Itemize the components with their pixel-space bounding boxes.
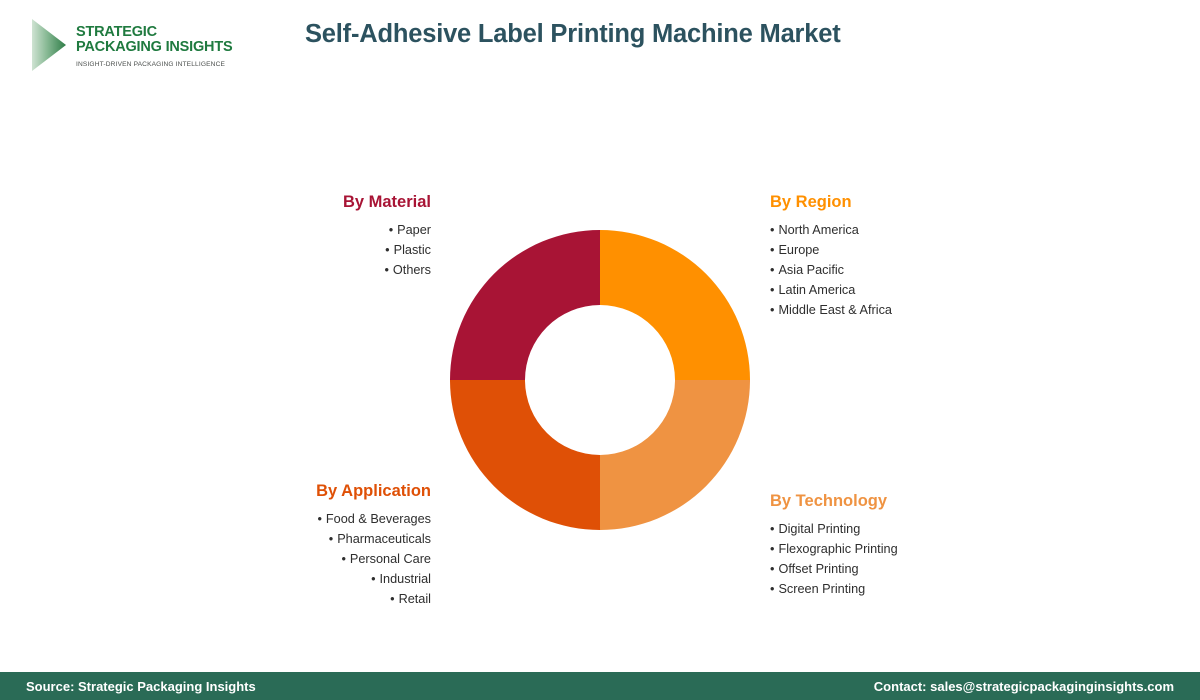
bullet-icon: • — [389, 223, 393, 237]
brand-logo-tagline: INSIGHT-DRIVEN PACKAGING INTELLIGENCE — [76, 61, 232, 68]
list-item-label: Screen Printing — [778, 582, 865, 596]
donut-segment-region[interactable] — [600, 230, 750, 380]
bullet-icon: • — [770, 522, 774, 536]
list-item-label: Digital Printing — [778, 522, 860, 536]
list-item: •Industrial — [185, 569, 431, 589]
list-item-label: Pharmaceuticals — [337, 532, 431, 546]
segment-heading-application: By Application — [185, 482, 431, 501]
chevron-right-icon — [28, 17, 70, 73]
list-item-label: North America — [778, 223, 858, 237]
segment-heading-technology: By Technology — [770, 492, 1070, 511]
list-item: •Personal Care — [185, 549, 431, 569]
segment-heading-material: By Material — [215, 193, 431, 212]
list-item-label: Flexographic Printing — [778, 542, 897, 556]
list-item: •Others — [215, 260, 431, 280]
donut-segment-application[interactable] — [450, 380, 600, 530]
list-item-label: Food & Beverages — [326, 512, 431, 526]
footer-source: Source: Strategic Packaging Insights — [26, 679, 256, 694]
list-item: •Paper — [215, 220, 431, 240]
list-item: •Pharmaceuticals — [185, 529, 431, 549]
bullet-icon: • — [770, 562, 774, 576]
segment-list-region: •North America•Europe•Asia Pacific•Latin… — [770, 220, 1070, 320]
bullet-icon: • — [371, 572, 375, 586]
donut-segment-material[interactable] — [450, 230, 600, 380]
brand-logo-line2: PACKAGING INSIGHTS — [76, 40, 232, 56]
bullet-icon: • — [329, 532, 333, 546]
footer-contact: Contact: sales@strategicpackaginginsight… — [874, 679, 1174, 694]
page-footer: Source: Strategic Packaging Insights Con… — [0, 672, 1200, 700]
bullet-icon: • — [770, 582, 774, 596]
list-item: •Offset Printing — [770, 559, 1070, 579]
list-item-label: Retail — [399, 592, 431, 606]
brand-logo: STRATEGIC PACKAGING INSIGHTS INSIGHT-DRI… — [28, 14, 208, 76]
list-item-label: Latin America — [778, 283, 855, 297]
segment-list-application: •Food & Beverages•Pharmaceuticals•Person… — [185, 509, 431, 609]
bullet-icon: • — [770, 542, 774, 556]
list-item: •Digital Printing — [770, 519, 1070, 539]
list-item: •Europe — [770, 240, 1070, 260]
donut-segment-technology[interactable] — [600, 380, 750, 530]
list-item-label: Asia Pacific — [778, 263, 844, 277]
segment-block-application: By Application •Food & Beverages•Pharmac… — [185, 482, 431, 609]
segment-block-region: By Region •North America•Europe•Asia Pac… — [770, 193, 1070, 320]
brand-logo-line1: STRATEGIC — [76, 25, 232, 41]
segment-heading-region: By Region — [770, 193, 1070, 212]
bullet-icon: • — [770, 223, 774, 237]
list-item-label: Others — [393, 263, 431, 277]
list-item: •Middle East & Africa — [770, 300, 1070, 320]
market-segmentation-donut-chart — [450, 230, 750, 530]
segment-list-material: •Paper•Plastic•Others — [215, 220, 431, 280]
list-item: •Plastic — [215, 240, 431, 260]
list-item-label: Personal Care — [350, 552, 431, 566]
bullet-icon: • — [317, 512, 321, 526]
page-title: Self-Adhesive Label Printing Machine Mar… — [305, 20, 841, 49]
list-item: •Asia Pacific — [770, 260, 1070, 280]
list-item-label: Offset Printing — [778, 562, 858, 576]
bullet-icon: • — [341, 552, 345, 566]
list-item-label: Plastic — [394, 243, 431, 257]
bullet-icon: • — [770, 303, 774, 317]
brand-logo-text: STRATEGIC PACKAGING INSIGHTS INSIGHT-DRI… — [76, 23, 232, 68]
bullet-icon: • — [770, 283, 774, 297]
list-item-label: Europe — [778, 243, 819, 257]
list-item-label: Industrial — [380, 572, 431, 586]
list-item: •Latin America — [770, 280, 1070, 300]
bullet-icon: • — [390, 592, 394, 606]
bullet-icon: • — [770, 263, 774, 277]
bullet-icon: • — [384, 263, 388, 277]
bullet-icon: • — [770, 243, 774, 257]
list-item-label: Paper — [397, 223, 431, 237]
list-item: •Flexographic Printing — [770, 539, 1070, 559]
page-header: STRATEGIC PACKAGING INSIGHTS INSIGHT-DRI… — [0, 0, 1200, 90]
segment-list-technology: •Digital Printing•Flexographic Printing•… — [770, 519, 1070, 599]
list-item: •Food & Beverages — [185, 509, 431, 529]
list-item: •North America — [770, 220, 1070, 240]
list-item-label: Middle East & Africa — [778, 303, 892, 317]
list-item: •Screen Printing — [770, 579, 1070, 599]
segment-block-technology: By Technology •Digital Printing•Flexogra… — [770, 492, 1070, 599]
segment-block-material: By Material •Paper•Plastic•Others — [215, 193, 431, 280]
bullet-icon: • — [385, 243, 389, 257]
list-item: •Retail — [185, 589, 431, 609]
